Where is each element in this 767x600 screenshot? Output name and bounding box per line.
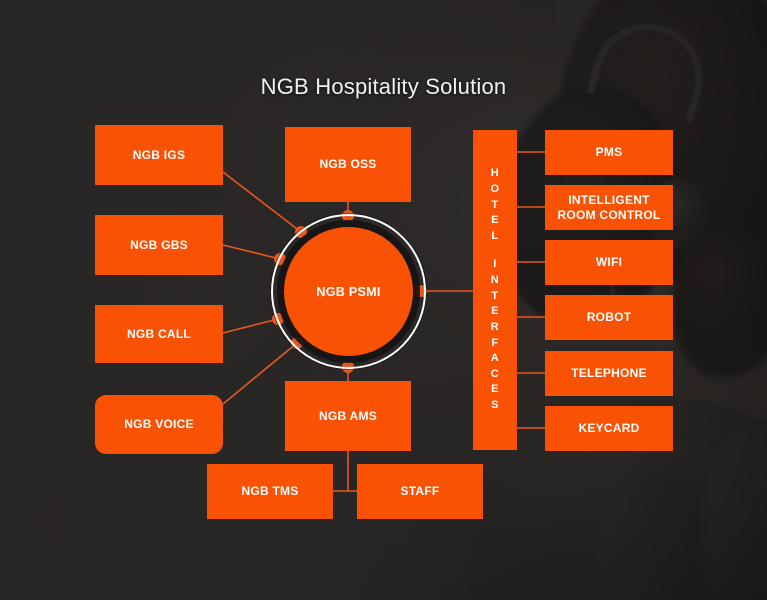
diagram-layer: NGB Hospitality Solution NGB IGSNGB GBSN… [0,0,767,600]
hotel-letter: L [491,229,498,245]
diagram-canvas: NGB Hospitality Solution NGB IGSNGB GBSN… [0,0,767,600]
hotel-letter: O [490,182,499,198]
node-label: NGB IGS [133,148,185,162]
node-pms[interactable]: PMS [545,130,673,175]
hub-label: NGB PSMI [284,227,413,356]
hotel-letter: T [491,198,498,214]
interfaces-letter: F [491,336,498,352]
node-wifi[interactable]: WIFI [545,240,673,285]
node-irc[interactable]: INTELLIGENTROOM CONTROL [545,185,673,230]
node-label: PMS [596,145,623,159]
node-ngb-tms[interactable]: NGB TMS [207,464,333,519]
node-label: TELEPHONE [571,366,647,380]
node-ngb-gbs[interactable]: NGB GBS [95,215,223,275]
interfaces-letter: A [491,351,499,367]
node-label: KEYCARD [578,421,639,435]
hotel-letter: H [491,166,499,182]
interfaces-letter: E [491,304,499,320]
node-label: NGB AMS [319,409,377,423]
hub-node[interactable]: NGB PSMI [271,214,426,369]
interfaces-word: INTERFACES [491,257,499,413]
node-ngb-igs[interactable]: NGB IGS [95,125,223,185]
interfaces-letter: E [491,382,499,398]
node-staff[interactable]: STAFF [357,464,483,519]
interfaces-letter: N [491,273,499,289]
interfaces-letter: S [491,398,499,414]
interfaces-letter: R [491,320,499,336]
node-keycard[interactable]: KEYCARD [545,406,673,451]
node-label: NGB VOICE [124,417,194,431]
interfaces-letter: T [491,289,498,305]
node-label: NGB OSS [319,157,376,171]
hotel-interfaces-bar[interactable]: HOTEL INTERFACES [473,130,517,450]
connector-call-to-hub [223,319,278,333]
node-label: WIFI [596,255,622,269]
node-label: NGB GBS [130,238,188,252]
node-telephone[interactable]: TELEPHONE [545,351,673,396]
node-label: NGB CALL [127,327,191,341]
node-ngb-oss[interactable]: NGB OSS [285,127,411,202]
node-label: INTELLIGENTROOM CONTROL [558,193,661,221]
node-robot[interactable]: ROBOT [545,295,673,340]
node-label: NGB TMS [241,484,298,498]
interfaces-letter: C [491,367,499,383]
node-label: STAFF [400,484,439,498]
node-ngb-voice[interactable]: NGB VOICE [95,395,223,454]
interfaces-letter: I [493,257,497,273]
node-label: ROBOT [587,310,632,324]
page-title: NGB Hospitality Solution [0,74,767,100]
hotel-letter: E [491,213,499,229]
node-ngb-ams[interactable]: NGB AMS [285,381,411,451]
node-ngb-call[interactable]: NGB CALL [95,305,223,363]
hotel-word: HOTEL [490,166,499,244]
